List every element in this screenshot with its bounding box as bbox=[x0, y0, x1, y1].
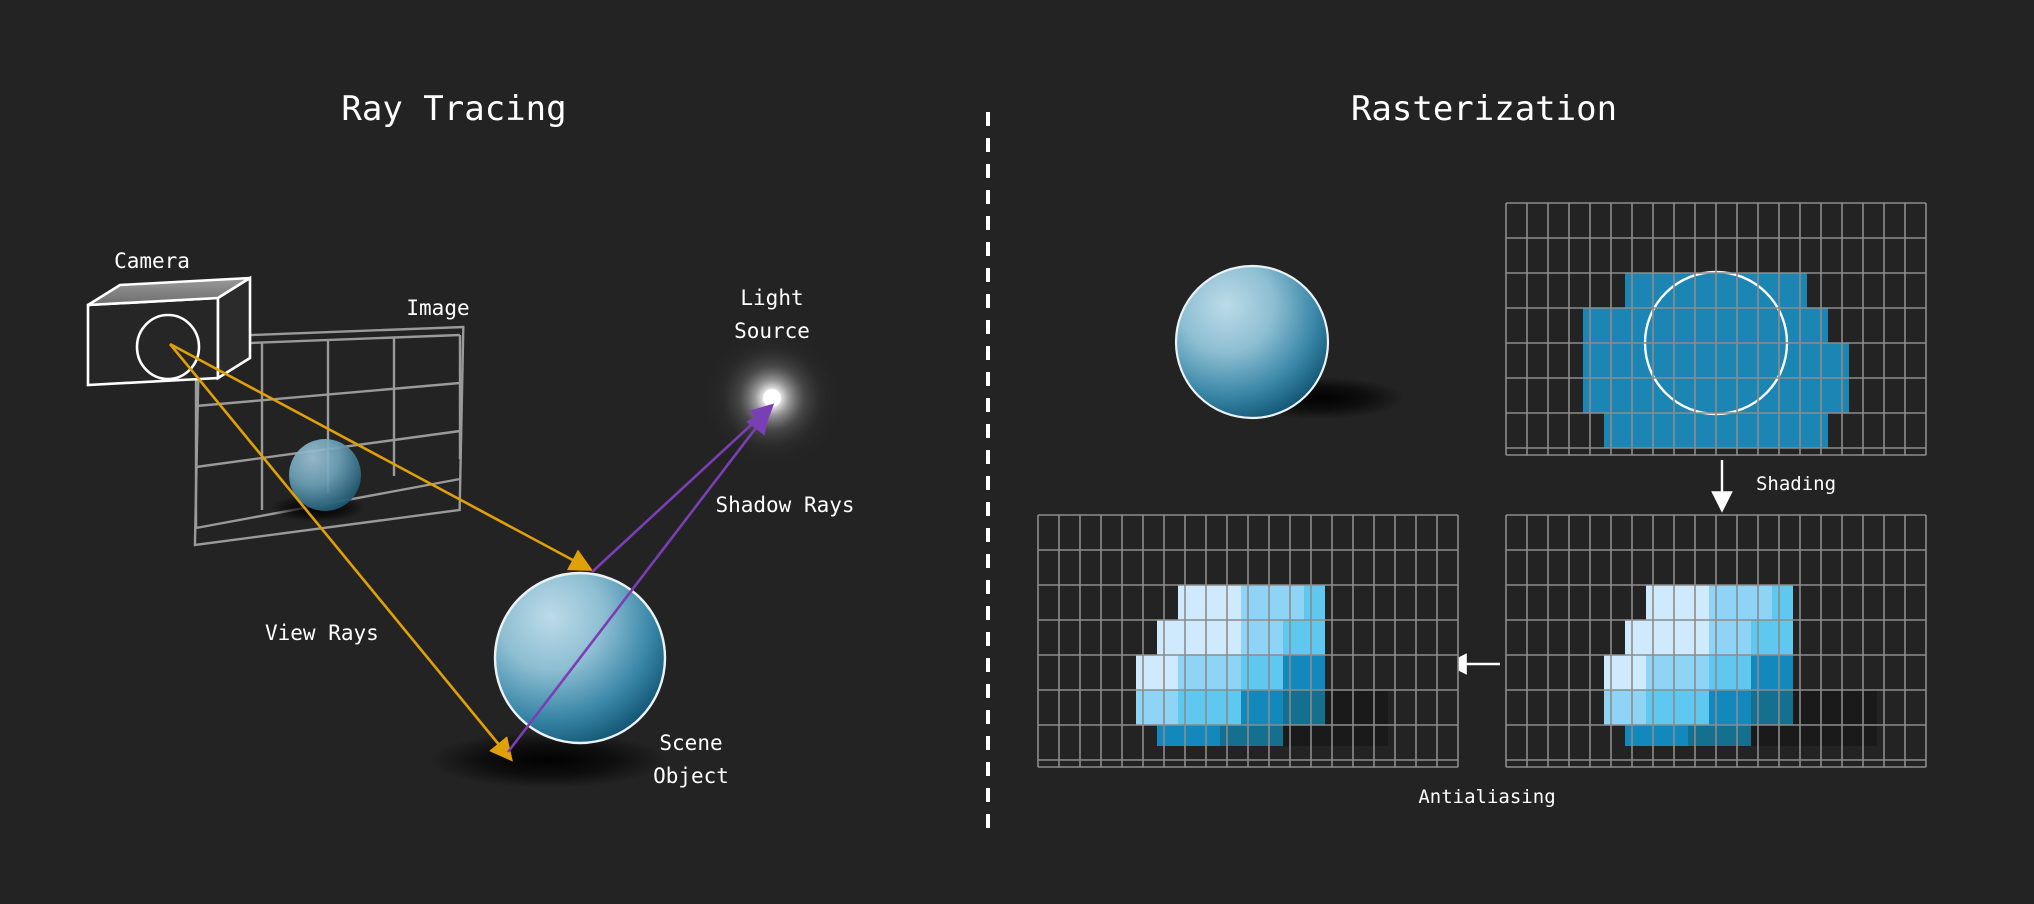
diagram-svg: Ray Tracing Rasterization Camera Image L… bbox=[0, 0, 2034, 904]
scene-object-label-line2: Object bbox=[653, 764, 729, 788]
light-source-label-line2: Source bbox=[734, 319, 810, 343]
antialiasing-label: Antialiasing bbox=[1418, 786, 1555, 808]
scene-object-shadow bbox=[430, 732, 666, 788]
scene-object-label-line1: Scene bbox=[659, 731, 722, 755]
image-label: Image bbox=[406, 296, 469, 320]
light-source-label-line1: Light bbox=[740, 286, 803, 310]
raster-grid-top-right bbox=[1506, 203, 1926, 455]
left-panel-title: Ray Tracing bbox=[341, 89, 566, 129]
light-source-core bbox=[763, 389, 781, 407]
smooth-sphere bbox=[1176, 266, 1328, 418]
diagram-canvas: Ray Tracing Rasterization Camera Image L… bbox=[0, 0, 2034, 904]
camera-body bbox=[88, 278, 250, 385]
view-rays-label: View Rays bbox=[265, 621, 379, 645]
right-panel-title: Rasterization bbox=[1351, 89, 1617, 129]
shadow-rays-label: Shadow Rays bbox=[715, 493, 854, 517]
camera-label: Camera bbox=[114, 249, 190, 273]
raster-grid-bottom-left bbox=[1038, 515, 1458, 767]
shading-label: Shading bbox=[1756, 473, 1836, 495]
raster-grid-bottom-right bbox=[1506, 515, 1926, 767]
